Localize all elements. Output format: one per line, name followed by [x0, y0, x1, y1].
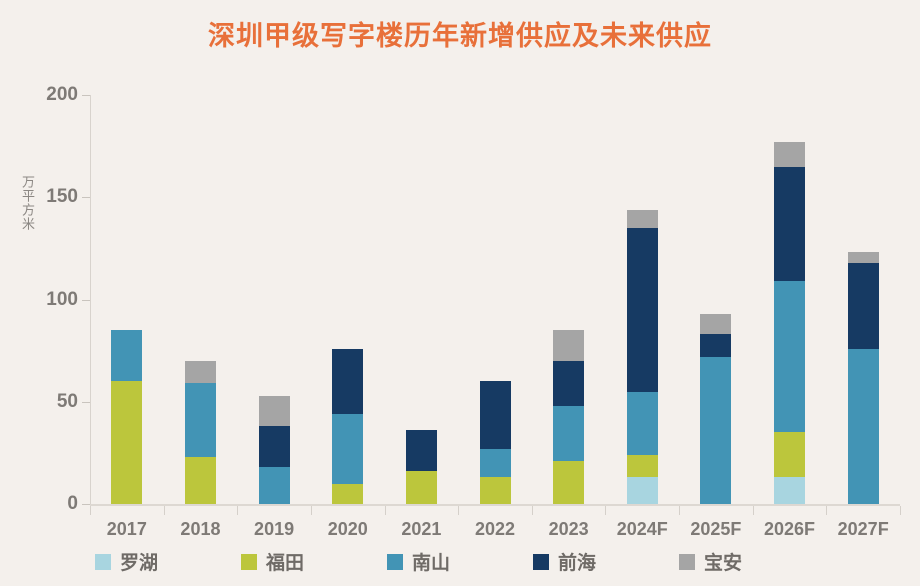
bar-segment[interactable]: [774, 142, 805, 167]
bar-segment[interactable]: [480, 449, 511, 478]
x-tick-mark: [90, 506, 91, 515]
bar-stack[interactable]: [111, 330, 142, 504]
bar-segment[interactable]: [185, 457, 216, 504]
bar-stack[interactable]: [553, 330, 584, 504]
bar-segment[interactable]: [406, 471, 437, 504]
legend-swatch-icon: [387, 554, 403, 570]
bar-segment[interactable]: [553, 461, 584, 504]
bar-segment[interactable]: [259, 467, 290, 504]
bar-segment[interactable]: [111, 381, 142, 504]
x-tick-mark: [311, 506, 312, 515]
x-tick-mark: [753, 506, 754, 515]
bar-segment[interactable]: [774, 477, 805, 504]
y-tick-label: 100: [46, 289, 78, 311]
x-tick-mark: [385, 506, 386, 515]
plot-area: 050100150200 201720182019202020212022202…: [90, 95, 900, 504]
legend-swatch-icon: [241, 554, 257, 570]
x-tick-mark: [826, 506, 827, 515]
x-axis-line: [90, 504, 900, 506]
x-tick-label: 2027F: [838, 519, 889, 540]
bar-segment[interactable]: [185, 361, 216, 383]
bar-segment[interactable]: [480, 381, 511, 448]
bar-segment[interactable]: [627, 477, 658, 504]
x-tick-mark: [679, 506, 680, 515]
y-axis-line: [90, 95, 91, 504]
x-tick-mark: [605, 506, 606, 515]
bar-stack[interactable]: [774, 142, 805, 504]
bar-stack[interactable]: [332, 349, 363, 504]
bar-stack[interactable]: [848, 252, 879, 504]
legend-label: 罗湖: [120, 548, 158, 575]
y-axis-title: 万平方米: [18, 175, 37, 231]
x-tick-label: 2026F: [764, 519, 815, 540]
legend-label: 前海: [558, 548, 596, 575]
y-tick-label: 50: [57, 391, 78, 413]
bar-segment[interactable]: [480, 477, 511, 504]
bar-segment[interactable]: [700, 314, 731, 334]
x-tick-label: 2019: [254, 519, 294, 540]
bar-segment[interactable]: [627, 228, 658, 392]
bar-stack[interactable]: [700, 314, 731, 504]
y-tick-mark: [82, 197, 90, 198]
bar-segment[interactable]: [332, 349, 363, 414]
legend-label: 南山: [412, 548, 450, 575]
x-tick-mark: [532, 506, 533, 515]
legend-item[interactable]: 罗湖: [95, 548, 241, 575]
bar-stack[interactable]: [627, 210, 658, 504]
bar-segment[interactable]: [259, 396, 290, 427]
x-tick-mark: [900, 506, 901, 515]
y-tick-label: 0: [67, 493, 78, 515]
legend-item[interactable]: 宝安: [679, 548, 825, 575]
bar-segment[interactable]: [406, 430, 437, 471]
bar-stack[interactable]: [406, 430, 437, 504]
x-tick-label: 2018: [180, 519, 220, 540]
bar-segment[interactable]: [185, 383, 216, 457]
bar-segment[interactable]: [111, 330, 142, 381]
bar-stack[interactable]: [480, 381, 511, 504]
chart-container: 深圳甲级写字楼历年新增供应及未来供应 万平方米 050100150200 201…: [0, 0, 920, 586]
x-tick-label: 2025F: [690, 519, 741, 540]
legend-swatch-icon: [679, 554, 695, 570]
x-tick-label: 2022: [475, 519, 515, 540]
y-tick-mark: [82, 504, 90, 505]
x-tick-label: 2024F: [617, 519, 668, 540]
chart-title: 深圳甲级写字楼历年新增供应及未来供应: [0, 14, 920, 53]
x-tick-label: 2020: [328, 519, 368, 540]
bar-segment[interactable]: [627, 392, 658, 455]
bar-stack[interactable]: [259, 396, 290, 504]
legend-item[interactable]: 南山: [387, 548, 533, 575]
bar-segment[interactable]: [553, 330, 584, 361]
bar-segment[interactable]: [848, 349, 879, 504]
legend-swatch-icon: [95, 554, 111, 570]
bar-segment[interactable]: [332, 414, 363, 484]
y-tick-label: 150: [46, 186, 78, 208]
bar-segment[interactable]: [848, 263, 879, 349]
bar-segment[interactable]: [700, 357, 731, 504]
bar-segment[interactable]: [774, 281, 805, 432]
bar-segment[interactable]: [774, 167, 805, 282]
bar-segment[interactable]: [553, 361, 584, 406]
bar-stack[interactable]: [185, 361, 216, 504]
legend-label: 宝安: [704, 548, 742, 575]
y-tick-label: 200: [46, 84, 78, 106]
y-tick-mark: [82, 95, 90, 96]
legend-swatch-icon: [533, 554, 549, 570]
bar-segment[interactable]: [848, 252, 879, 262]
x-tick-mark: [237, 506, 238, 515]
y-tick-mark: [82, 402, 90, 403]
bar-segment[interactable]: [332, 484, 363, 504]
bar-segment[interactable]: [627, 455, 658, 477]
x-tick-label: 2021: [401, 519, 441, 540]
bar-segment[interactable]: [774, 432, 805, 477]
y-tick-mark: [82, 300, 90, 301]
legend-item[interactable]: 前海: [533, 548, 679, 575]
bar-segment[interactable]: [259, 426, 290, 467]
x-tick-mark: [458, 506, 459, 515]
legend-item[interactable]: 福田: [241, 548, 387, 575]
legend-label: 福田: [266, 548, 304, 575]
bar-segment[interactable]: [700, 334, 731, 356]
x-tick-label: 2017: [107, 519, 147, 540]
bar-segment[interactable]: [553, 406, 584, 461]
chart-legend: 罗湖福田南山前海宝安: [0, 548, 920, 575]
x-tick-mark: [164, 506, 165, 515]
x-tick-label: 2023: [549, 519, 589, 540]
bar-segment[interactable]: [627, 210, 658, 228]
